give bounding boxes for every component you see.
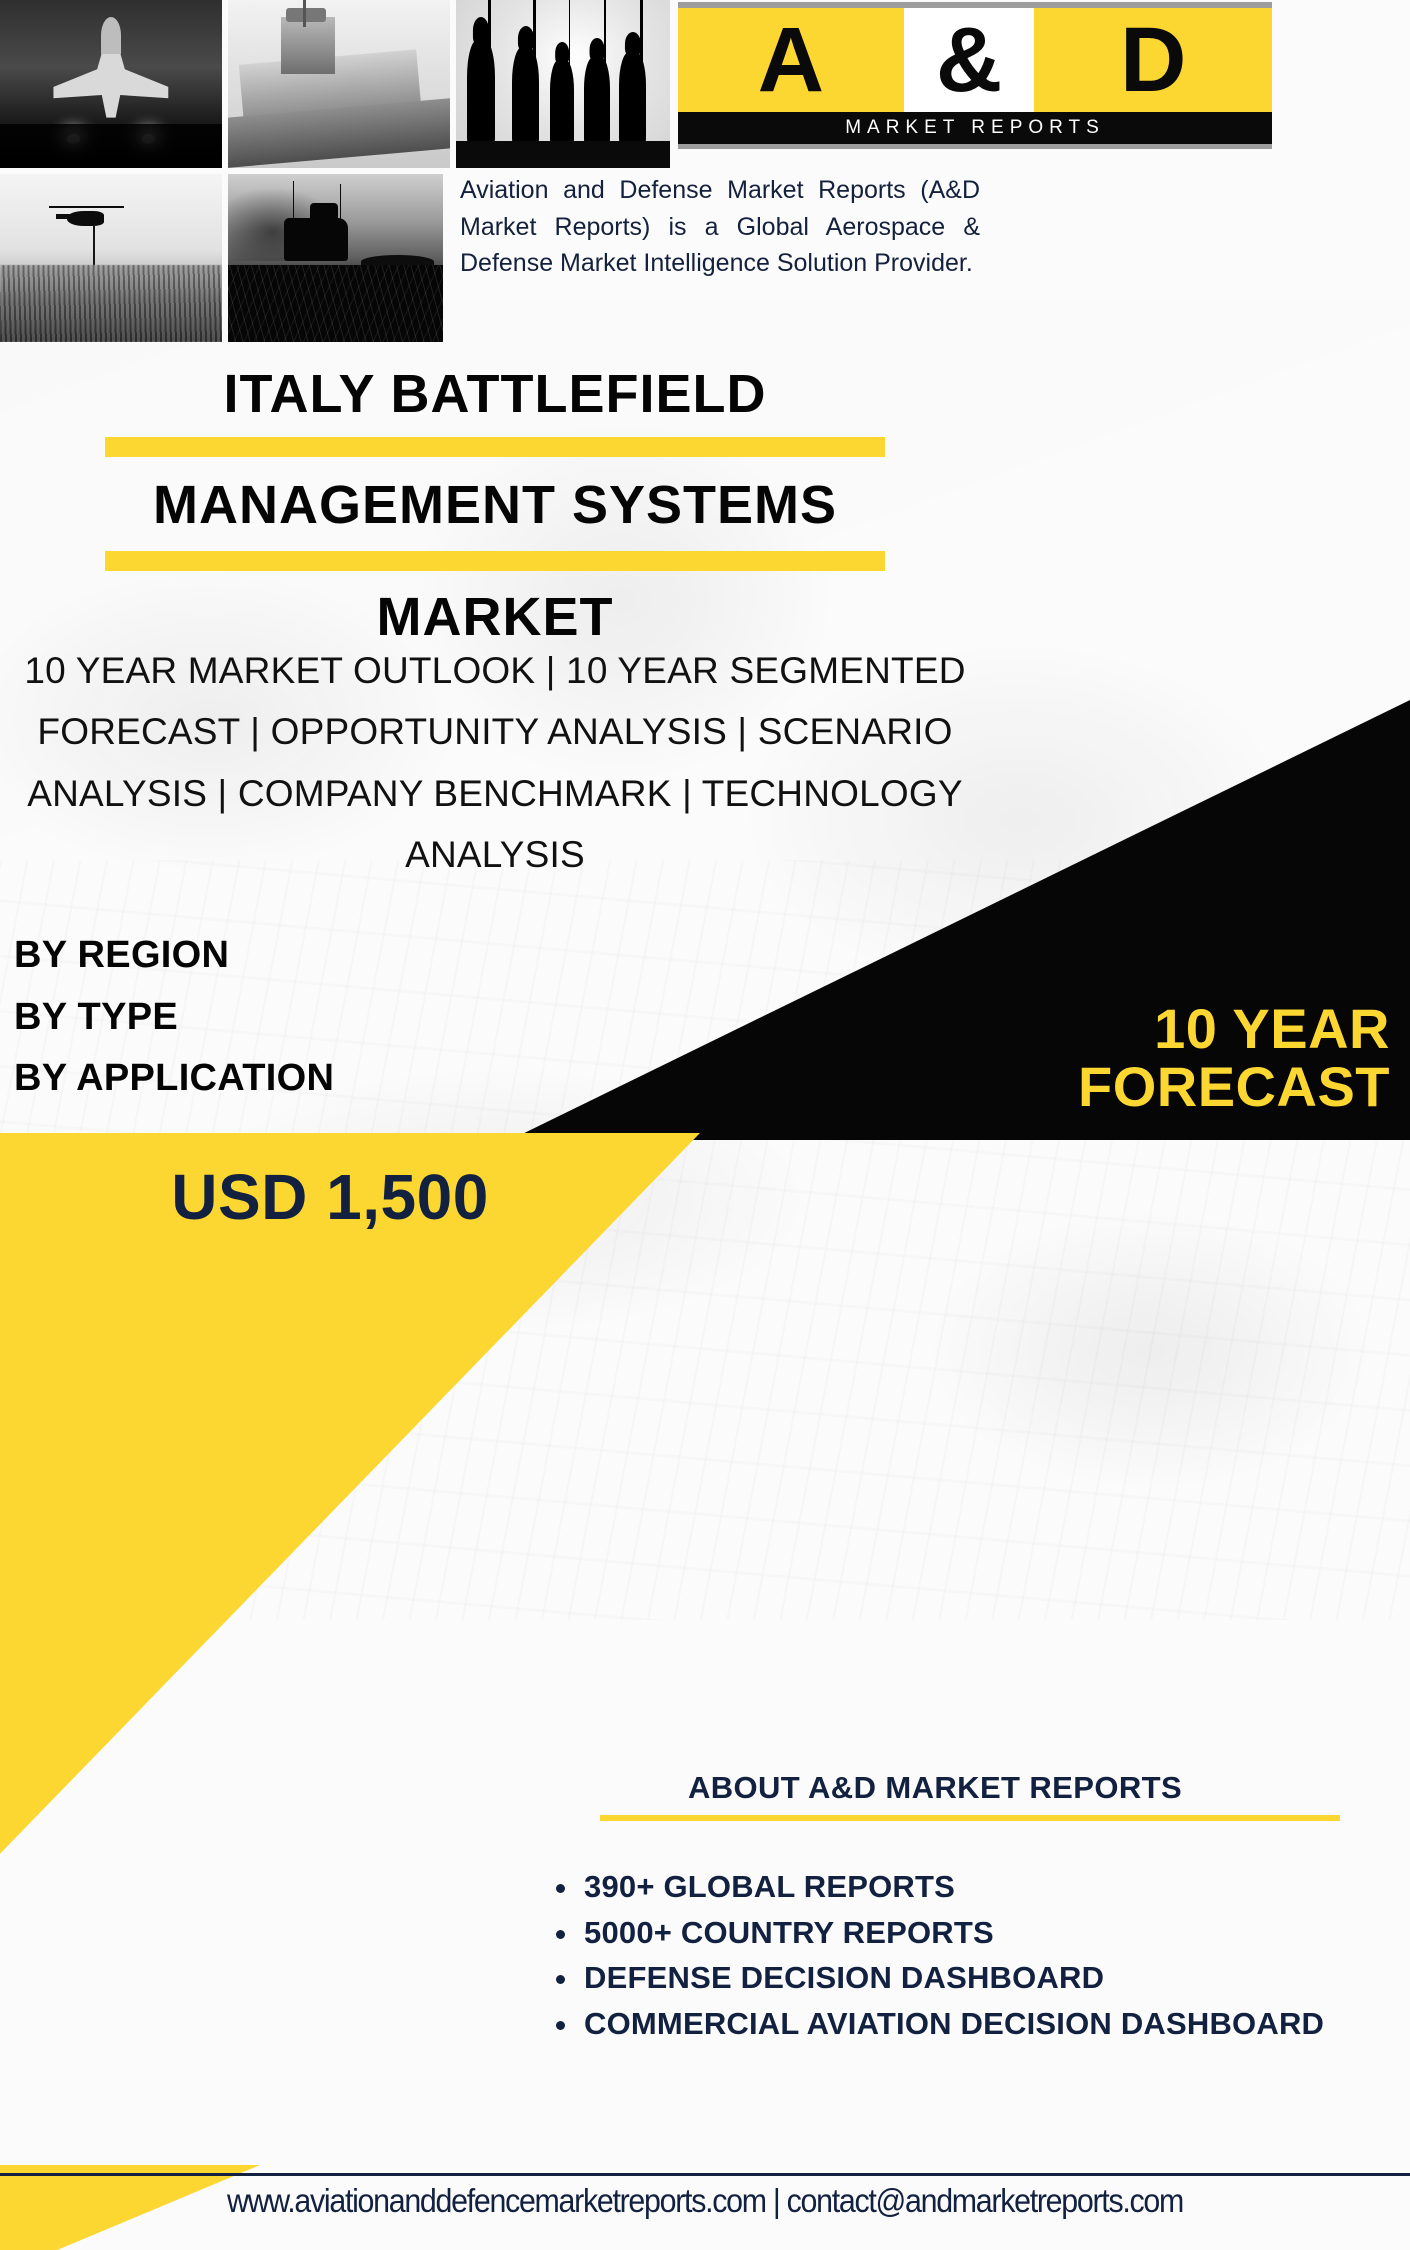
fighter-jet-photo: [0, 0, 222, 168]
logo-tagline-bar: MARKET REPORTS: [678, 112, 1272, 144]
footer-contact: www.aviationanddefencemarketreports.com …: [56, 2182, 1353, 2220]
report-flyer: A & D MARKET REPORTS Aviation and Defens…: [0, 0, 1410, 2250]
about-bullet-list: 390+ GLOBAL REPORTS 5000+ COUNTRY REPORT…: [440, 1867, 1370, 2044]
heli-rotor: [49, 206, 124, 209]
company-intro-paragraph: Aviation and Defense Market Reports (A&D…: [460, 172, 980, 282]
forecast-line-2: FORECAST: [600, 1058, 1390, 1116]
armored-vehicle-photo: [228, 174, 443, 342]
carrier-mast: [303, 0, 306, 27]
logo-letter-d: D: [1034, 8, 1272, 112]
soldier-silhouette: [619, 52, 647, 144]
soldier-silhouette: [584, 57, 610, 144]
vehicle-antenna: [340, 184, 342, 221]
segment-item-application: BY APPLICATION: [14, 1048, 634, 1110]
brand-logo: A & D MARKET REPORTS: [678, 2, 1272, 150]
about-bullet-defense-dashboard: DEFENSE DECISION DASHBOARD: [548, 1958, 1370, 1998]
helicopter-photo: [0, 174, 222, 342]
logo-letter-cells: A & D: [678, 8, 1272, 112]
price-label: USD 1,500: [0, 1160, 660, 1234]
segment-item-region: BY REGION: [14, 925, 634, 987]
about-bullet-global-reports: 390+ GLOBAL REPORTS: [548, 1867, 1370, 1907]
aircraft-carrier-photo: [228, 0, 450, 168]
segment-item-type: BY TYPE: [14, 987, 634, 1049]
logo-bottom-rule: [678, 144, 1272, 149]
soldiers-silhouette-photo: [456, 0, 670, 168]
carrier-tower: [281, 17, 334, 74]
soldier-silhouette: [550, 60, 574, 144]
report-subtitle: 10 YEAR MARKET OUTLOOK | 10 YEAR SEGMENT…: [22, 640, 968, 886]
vehicle-antenna: [293, 181, 295, 221]
about-bullet-country-reports: 5000+ COUNTRY REPORTS: [548, 1913, 1370, 1953]
segment-list: BY REGION BY TYPE BY APPLICATION: [14, 925, 634, 1110]
about-bullet-aviation-dashboard: COMMERCIAL AVIATION DECISION DASHBOARD: [548, 2004, 1370, 2044]
logo-letter-a: A: [678, 8, 904, 112]
soldier-silhouette: [467, 40, 495, 144]
title-divider-top: [105, 437, 885, 457]
logo-ampersand: &: [904, 8, 1035, 112]
about-heading: ABOUT A&D MARKET REPORTS: [440, 1770, 1370, 1806]
about-heading-underline: [600, 1815, 1340, 1821]
logo-tagline: MARKET REPORTS: [845, 117, 1105, 139]
forecast-badge: 10 YEAR FORECAST: [600, 1000, 1390, 1116]
report-title-block: ITALY BATTLEFIELD MANAGEMENT SYSTEMS MAR…: [0, 358, 990, 652]
footer-divider: [0, 2173, 1410, 2176]
title-divider-bottom: [105, 551, 885, 571]
soldier-silhouette: [512, 47, 540, 144]
forecast-line-1: 10 YEAR: [600, 1000, 1390, 1058]
soldiers-ground: [456, 141, 670, 168]
report-title-line-1: ITALY BATTLEFIELD: [0, 358, 990, 429]
vehicle-ground-texture: [228, 265, 443, 342]
report-title-line-2: MANAGEMENT SYSTEMS: [0, 465, 990, 544]
heli-grass-texture: [0, 265, 222, 342]
heli-body: [67, 211, 105, 226]
about-section: ABOUT A&D MARKET REPORTS 390+ GLOBAL REP…: [440, 1770, 1370, 2050]
jet-nose: [101, 17, 121, 54]
vehicle-hull: [284, 218, 349, 262]
jet-runway: [0, 124, 222, 168]
